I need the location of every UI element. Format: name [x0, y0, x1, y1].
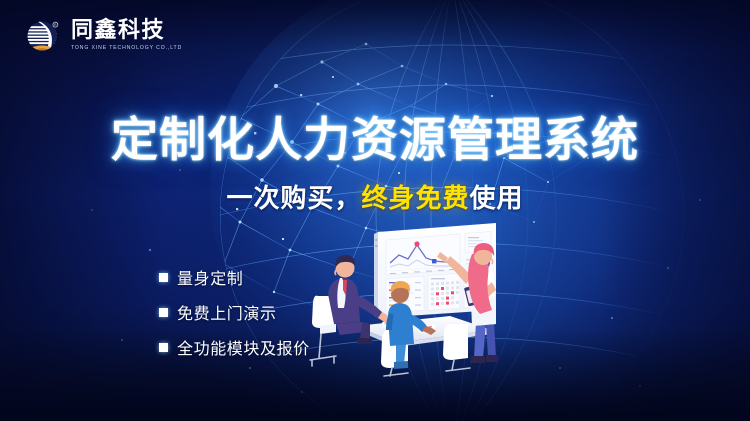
page-title: 定制化人力资源管理系统 [0, 101, 750, 170]
list-item[interactable]: 量身定制 [159, 265, 310, 289]
square-bullet-icon [159, 343, 168, 352]
square-bullet-icon [159, 273, 168, 282]
list-item-label: 免费上门演示 [177, 300, 277, 324]
list-item[interactable]: 全功能模块及报价 [159, 335, 310, 359]
business-team-dashboard-meeting-illustration [300, 218, 535, 378]
page-subtitle: 一次购买，终身免费使用 [0, 178, 750, 215]
brand-logo[interactable]: R 同鑫科技 TONG XINE TECHNOLOGY CO.,LTD [24, 17, 182, 55]
globe-stripe-logo-icon: R [24, 17, 62, 55]
list-item[interactable]: 免费上门演示 [159, 300, 310, 324]
list-item-label: 全功能模块及报价 [177, 335, 310, 359]
list-item-label: 量身定制 [177, 265, 243, 289]
square-bullet-icon [159, 308, 168, 317]
brand-name-en: TONG XINE TECHNOLOGY CO.,LTD [71, 46, 182, 51]
subtitle-highlight: 终身免费 [361, 184, 469, 214]
subtitle-suffix: 使用 [470, 184, 524, 214]
brand-name-cn: 同鑫科技 [71, 20, 182, 42]
subtitle-prefix: 一次购买， [226, 184, 361, 214]
feature-bullet-list: 量身定制 免费上门演示 全功能模块及报价 [159, 265, 310, 359]
promo-banner: R 同鑫科技 TONG XINE TECHNOLOGY CO.,LTD 定制化人… [0, 0, 750, 421]
